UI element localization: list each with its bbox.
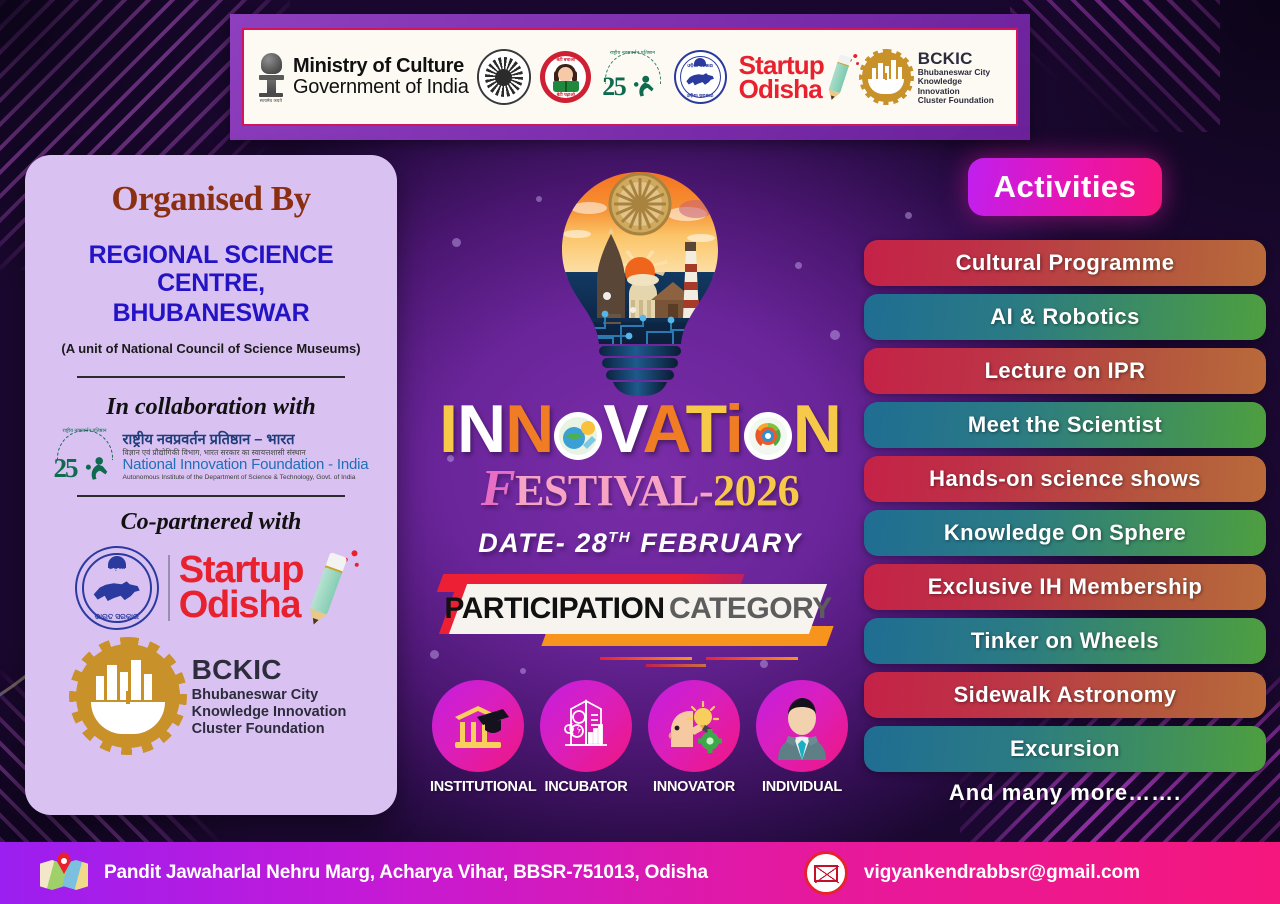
beti-bachao-roundel-icon: बेटी बचाओ बेटी पढ़ाओ — [540, 51, 591, 103]
activity-label: Meet the Scientist — [968, 412, 1162, 438]
banner-tick-2 — [706, 657, 798, 660]
globe-logo-letter-o-icon — [553, 404, 603, 454]
activity-item[interactable]: Cultural Programme — [864, 240, 1266, 286]
roundel-top-text: बेटी बचाओ — [545, 57, 586, 63]
poster-canvas: सत्यमेव जयते Ministry of Culture Governm… — [0, 0, 1280, 904]
bckic-line2: Knowledge Innovation — [192, 704, 347, 721]
organisation-name-line2: BHUBANESWAR — [39, 299, 383, 327]
nif-25-logo-icon: राष्ट्रीय नवप्रवर्तन प्रतिष्ठान 25 — [601, 50, 663, 104]
organised-by-heading: Organised By — [39, 179, 383, 219]
pencil-icon — [819, 49, 859, 105]
card-divider-1 — [77, 376, 345, 378]
organisers-card: Organised By REGIONAL SCIENCE CENTRE, BH… — [25, 155, 397, 815]
bokeh-dot — [760, 660, 768, 668]
bokeh-dot — [830, 330, 840, 340]
nif-english-title: National Innovation Foundation - India — [123, 457, 369, 474]
bokeh-dot — [430, 650, 439, 659]
bokeh-dot — [520, 668, 526, 674]
activity-item[interactable]: Knowledge On Sphere — [864, 510, 1266, 556]
activity-item[interactable]: Hands-on science shows — [864, 456, 1266, 502]
nif-runner-glyph — [83, 455, 110, 483]
odisha-seal-bottom-text: ଭାରତ ସରକାର — [77, 612, 157, 622]
festival-title-block: INNVATiN FESTIVAL-2026 DATE- 28TH FEBRUA… — [420, 395, 860, 559]
nif-runner-glyph — [631, 74, 657, 100]
email-block[interactable]: vigyankendrabbsr@gmail.com — [804, 851, 1140, 895]
category-institutional[interactable]: INSTITUTIONAL — [430, 680, 526, 795]
logo-separator — [168, 555, 170, 621]
event-date: DATE- 28TH FEBRUARY — [420, 528, 860, 559]
innovation-lightbulb-illustration — [555, 168, 725, 398]
nif-arc-text: राष्ट्रीय नवप्रवर्तन प्रतिष्ठान — [601, 50, 663, 56]
participation-word: PARTICIPATION — [444, 592, 664, 626]
activity-item[interactable]: Sidewalk Astronomy — [864, 672, 1266, 718]
person-avatar-icon — [756, 680, 848, 772]
diagonal-stripes-top-right-decoration — [1010, 0, 1220, 132]
nif-25-logo-icon: राष्ट्रीय नवप्रवर्तन प्रतिष्ठान 25 — [54, 429, 116, 485]
nif-number: 25 — [54, 453, 77, 484]
category-label: INCUBATOR — [538, 779, 634, 795]
innovation-wordmark: INNVATiN — [420, 395, 860, 463]
partner-logo-banner: सत्यमेव जयते Ministry of Culture Governm… — [230, 14, 1030, 140]
nif-hindi-title: राष्ट्रीय नवप्रवर्तन प्रतिष्ठान – भारत — [123, 433, 369, 449]
bckic-line3: Cluster Foundation — [918, 96, 1004, 105]
bckic-gear-skyline-icon — [76, 644, 180, 748]
activity-label: Exclusive IH Membership — [928, 574, 1203, 600]
startup-odisha-logo: Startup Odisha — [739, 52, 852, 102]
activity-label: Cultural Programme — [956, 250, 1175, 276]
category-label: INNOVATOR — [646, 779, 742, 795]
ministry-of-culture-logo: सत्यमेव जयते Ministry of Culture Governm… — [256, 50, 469, 104]
bckic-line2: Knowledge Innovation — [918, 77, 1004, 96]
bokeh-dot — [905, 212, 912, 219]
india-state-emblem-icon: सत्यमेव जयते — [256, 50, 286, 104]
activity-item[interactable]: Excursion — [864, 726, 1266, 772]
activity-label: Lecture on IPR — [985, 358, 1146, 384]
nif-english-subtitle: Autonomous Institute of the Department o… — [123, 474, 369, 481]
category-incubator[interactable]: INCUBATOR — [538, 680, 634, 795]
odisha-seal-top-text: ଓଡ଼ିଶା — [77, 564, 157, 572]
date-prefix: DATE- 28 — [478, 528, 608, 558]
bckic-line1: Bhubaneswar City — [192, 687, 347, 704]
festival-year-wordmark: FESTIVAL-2026 — [420, 459, 860, 518]
category-label: INDIVIDUAL — [754, 779, 850, 795]
co-partnered-heading: Co-partnered with — [39, 509, 383, 536]
bckic-logo: BCKIC Bhubaneswar City Knowledge Innovat… — [39, 644, 383, 748]
category-individual[interactable]: INDIVIDUAL — [754, 680, 850, 795]
participation-category-label: PARTICIPATION CATEGORY — [458, 584, 818, 634]
bokeh-dot — [452, 238, 461, 247]
activity-item[interactable]: Exclusive IH Membership — [864, 564, 1266, 610]
activity-label: AI & Robotics — [990, 304, 1139, 330]
bokeh-dot — [536, 196, 542, 202]
startup-odisha-line1: Startup — [179, 553, 304, 588]
activities-heading-badge: Activities — [968, 158, 1162, 216]
activity-label: Knowledge On Sphere — [944, 520, 1186, 546]
festival-rest-text: ESTIVAL- — [515, 466, 713, 515]
activity-item[interactable]: Lecture on IPR — [864, 348, 1266, 394]
bckic-title: BCKIC — [918, 49, 1004, 68]
nif-logo-block: राष्ट्रीय नवप्रवर्तन प्रतिष्ठान 25 राष्ट… — [39, 429, 383, 485]
organisation-unit-note: (A unit of National Council of Science M… — [39, 341, 383, 356]
envelope-icon — [804, 851, 848, 895]
festival-f-letter: F — [481, 460, 515, 517]
contact-footer-bar: Pandit Jawaharlal Nehru Marg, Acharya Vi… — [0, 842, 1280, 904]
partner-logo-strip: सत्यमेव जयते Ministry of Culture Governm… — [242, 28, 1018, 126]
organisation-name-line1: REGIONAL SCIENCE CENTRE, — [39, 241, 383, 297]
incubator-building-icon — [540, 680, 632, 772]
address-block: Pandit Jawaharlal Nehru Marg, Acharya Vi… — [0, 854, 708, 892]
activity-label: Excursion — [1010, 736, 1120, 762]
bckic-gear-skyline-icon — [862, 52, 911, 102]
bckic-logo: BCKIC Bhubaneswar City Knowledge Innovat… — [862, 49, 1004, 105]
odisha-government-seal-icon: ଓଡ଼ିଶା ସରକାର ଓଡ଼ିଶା ସରକାର — [674, 50, 727, 104]
category-innovator[interactable]: INNOVATOR — [646, 680, 742, 795]
activity-item[interactable]: Tinker on Wheels — [864, 618, 1266, 664]
bokeh-dot — [795, 262, 802, 269]
activities-list: Cultural Programme AI & Robotics Lecture… — [864, 240, 1266, 806]
address-text: Pandit Jawaharlal Nehru Marg, Acharya Vi… — [104, 862, 708, 884]
activities-more-label: And many more……. — [864, 780, 1266, 806]
activity-item[interactable]: Meet the Scientist — [864, 402, 1266, 448]
activity-label: Sidewalk Astronomy — [954, 682, 1177, 708]
activity-label: Tinker on Wheels — [971, 628, 1159, 654]
bckic-line3: Cluster Foundation — [192, 721, 347, 738]
in-collaboration-heading: In collaboration with — [39, 394, 383, 421]
category-word: CATEGORY — [669, 592, 832, 626]
ministry-line1: Ministry of Culture — [293, 56, 469, 77]
pencil-icon — [294, 543, 360, 634]
email-text: vigyankendrabbsr@gmail.com — [864, 862, 1140, 884]
festival-year-text: 2026 — [713, 466, 799, 515]
map-location-pin-icon — [40, 854, 88, 892]
bckic-title: BCKIC — [192, 653, 347, 687]
ministry-line2: Government of India — [293, 77, 469, 98]
card-divider-2 — [77, 495, 345, 497]
roundel-bottom-text: बेटी पढ़ाओ — [545, 92, 586, 98]
banner-tick-1 — [600, 657, 692, 660]
ncsm-wheel-icon — [477, 49, 532, 105]
odisha-seal-top-text: ଓଡ଼ିଶା ସରକାର — [676, 63, 725, 68]
participation-category-banner: PARTICIPATION CATEGORY — [440, 572, 840, 652]
startup-odisha-logo: ଓଡ଼ିଶା ଭାରତ ସରକାର Startup Odisha — [39, 546, 383, 630]
odisha-government-seal-icon: ଓଡ଼ିଶା ଭାରତ ସରକାର — [75, 546, 159, 630]
activity-item[interactable]: AI & Robotics — [864, 294, 1266, 340]
head-lightbulb-gear-icon — [648, 680, 740, 772]
category-label: INSTITUTIONAL — [430, 779, 526, 795]
date-month: FEBRUARY — [640, 528, 802, 558]
odisha-seal-bottom-text: ଓଡ଼ିଶା ସରକାର — [676, 93, 725, 98]
participation-category-list: INSTITUTIONAL INCUB — [430, 680, 850, 795]
banner-tick-3 — [646, 664, 706, 667]
innovation-wheel-logo-letter-o-icon — [743, 404, 793, 454]
nif-number: 25 — [602, 72, 625, 102]
nif-arc-text: राष्ट्रीय नवप्रवर्तन प्रतिष्ठान — [54, 428, 116, 434]
startup-odisha-line2: Odisha — [739, 77, 824, 101]
activity-label: Hands-on science shows — [929, 466, 1201, 492]
activities-heading-label: Activities — [994, 169, 1137, 205]
startup-odisha-line2: Odisha — [179, 588, 304, 623]
emblem-motto-text: सत्यमेव जयते — [260, 98, 282, 104]
date-ordinal-suffix: TH — [608, 529, 631, 546]
institution-graduation-cap-icon — [432, 680, 524, 772]
